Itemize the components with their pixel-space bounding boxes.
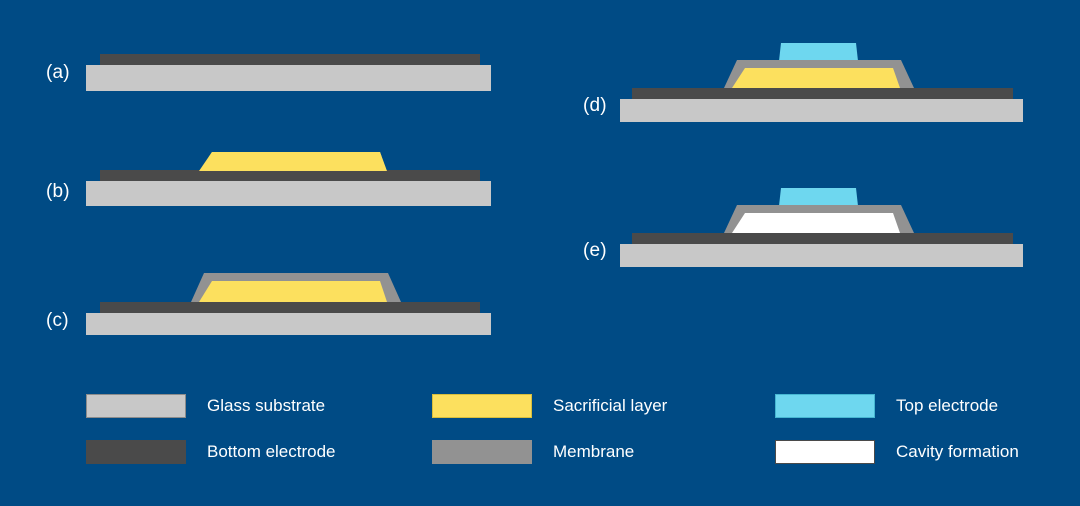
- panel-d-svg: [620, 40, 1030, 122]
- legend-label-sacrificial-layer: Sacrificial layer: [553, 396, 667, 416]
- diagram-canvas: (a) (b) (c) (d): [0, 0, 1080, 506]
- panel-d-cross-section: [620, 40, 1030, 122]
- glass-substrate-layer: [86, 65, 491, 91]
- sacrificial-layer: [732, 68, 900, 88]
- legend-swatch-sacrificial-layer: [432, 394, 532, 418]
- top-electrode-layer: [779, 188, 858, 206]
- bottom-electrode-layer: [100, 170, 480, 181]
- panel-a-svg: [86, 48, 496, 93]
- bottom-electrode-layer: [100, 302, 480, 313]
- legend-label-bottom-electrode: Bottom electrode: [207, 442, 336, 462]
- top-electrode-layer: [779, 43, 858, 61]
- legend-swatch-membrane: [432, 440, 532, 464]
- legend-swatch-cavity-formation: [775, 440, 875, 464]
- legend-item-cavity-formation: Cavity formation: [775, 440, 1019, 464]
- legend-item-bottom-electrode: Bottom electrode: [86, 440, 336, 464]
- panel-b-svg: [86, 145, 496, 207]
- legend-swatch-glass-substrate: [86, 394, 186, 418]
- panel-label-b: (b): [46, 181, 70, 203]
- panel-c-svg: [86, 264, 496, 336]
- panel-c-cross-section: [86, 264, 496, 336]
- glass-substrate-layer: [620, 99, 1023, 122]
- legend-item-membrane: Membrane: [432, 440, 634, 464]
- sacrificial-layer: [199, 281, 387, 302]
- legend-item-sacrificial-layer: Sacrificial layer: [432, 394, 667, 418]
- panel-label-a: (a): [46, 62, 70, 84]
- panel-label-d: (d): [583, 95, 607, 117]
- bottom-electrode-layer: [632, 88, 1013, 99]
- cavity-region: [732, 213, 900, 233]
- bottom-electrode-layer: [100, 54, 480, 65]
- bottom-electrode-layer: [632, 233, 1013, 244]
- legend-label-cavity-formation: Cavity formation: [896, 442, 1019, 462]
- panel-e-cross-section: [620, 185, 1030, 267]
- legend-item-glass-substrate: Glass substrate: [86, 394, 325, 418]
- legend-label-membrane: Membrane: [553, 442, 634, 462]
- legend-swatch-top-electrode: [775, 394, 875, 418]
- sacrificial-layer-front: [199, 152, 387, 171]
- panel-label-e: (e): [583, 240, 607, 262]
- panel-a-cross-section: [86, 48, 496, 93]
- glass-substrate-layer: [86, 181, 491, 206]
- panel-e-svg: [620, 185, 1030, 267]
- legend-item-top-electrode: Top electrode: [775, 394, 998, 418]
- glass-substrate-layer: [620, 244, 1023, 267]
- panel-label-c: (c): [46, 310, 69, 332]
- panel-b-cross-section: [86, 145, 496, 207]
- glass-substrate-layer: [86, 313, 491, 335]
- legend-label-glass-substrate: Glass substrate: [207, 396, 325, 416]
- legend-swatch-bottom-electrode: [86, 440, 186, 464]
- legend-label-top-electrode: Top electrode: [896, 396, 998, 416]
